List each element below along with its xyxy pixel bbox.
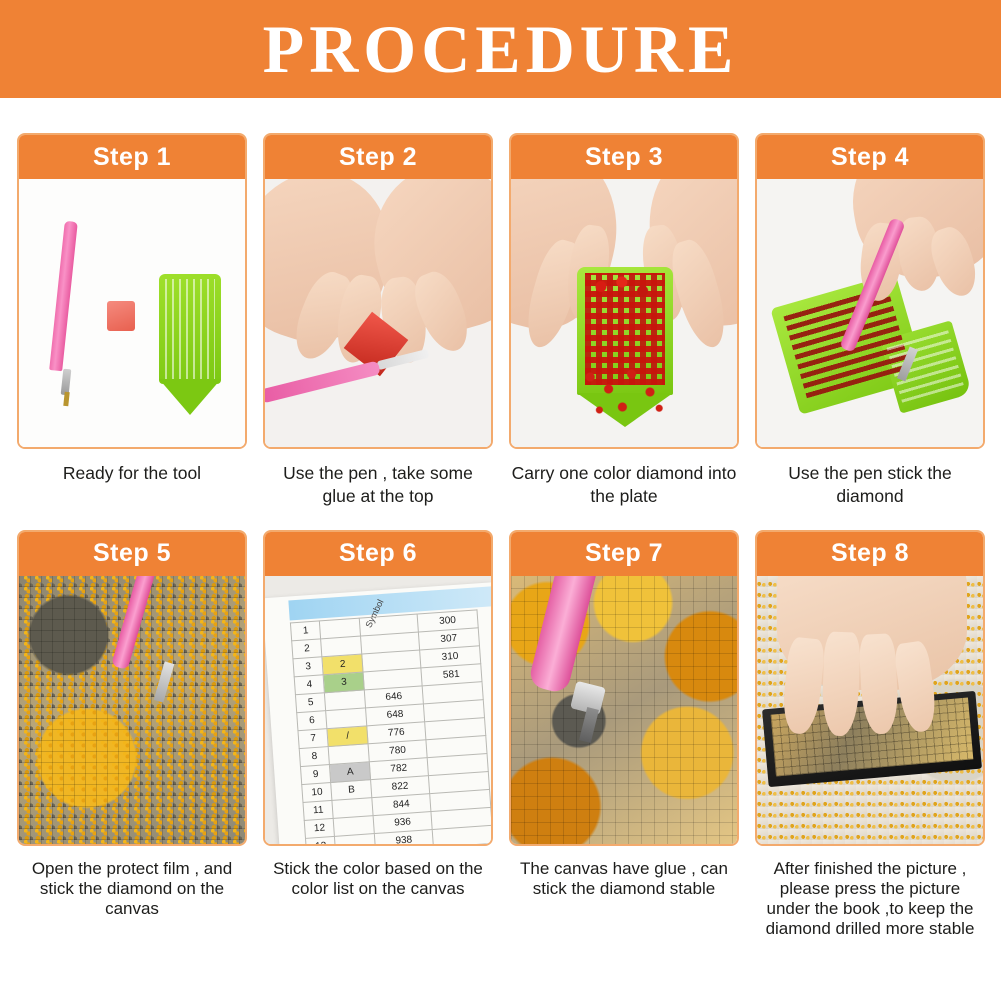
symbol-cell <box>332 797 373 818</box>
step-4-caption: Use the pen stick the diamond <box>755 462 985 508</box>
row-number-cell: 10 <box>302 782 333 802</box>
step-3-card: Step 3 <box>509 133 739 449</box>
step-6-title: Step 6 <box>265 532 491 576</box>
step-7-caption: The canvas have glue , can stick the dia… <box>509 859 739 899</box>
step-4-image <box>757 179 983 447</box>
step-3-image <box>511 179 737 447</box>
step-8-image <box>757 576 983 844</box>
step-4-title: Step 4 <box>757 135 983 179</box>
symbol-cell <box>326 707 367 728</box>
step-3-caption: Carry one color diamond into the plate <box>509 462 739 508</box>
row-number-cell: 12 <box>304 818 335 838</box>
step-card-7: Step 7 The canvas have glue , can stick … <box>509 530 739 939</box>
page-title: PROCEDURE <box>263 15 739 83</box>
step-1-card: Step 1 <box>17 133 247 449</box>
row-number-cell: 2 <box>292 638 323 658</box>
symbol-cell <box>321 636 362 657</box>
step-1-image <box>19 179 245 447</box>
step-7-card: Step 7 <box>509 530 739 846</box>
row-number-cell: 8 <box>299 746 330 766</box>
symbol-cell: / <box>327 725 368 746</box>
steps-grid: Step 1 Ready for the tool <box>17 133 984 939</box>
tray-grooves-icon <box>165 279 215 379</box>
symbol-cell: A <box>330 761 371 782</box>
symbol-cell <box>334 815 375 836</box>
wax-block-icon <box>107 301 135 331</box>
color-list-table: 130023073231043581564666487/77687809A782… <box>290 609 491 844</box>
step-8-caption: After finished the picture , please pres… <box>755 859 985 939</box>
step-card-3: Step 3 Carry one c <box>509 133 739 508</box>
step-6-card: Step 6 Symbol 13002307323104358156466648… <box>263 530 493 846</box>
procedure-infographic: PROCEDURE Step 1 <box>0 0 1001 1001</box>
steps-row-2: Step 5 Open the protect film , and stick… <box>17 530 984 939</box>
step-5-image <box>19 576 245 844</box>
row-number-cell: 3 <box>293 656 324 676</box>
symbol-cell <box>320 618 361 639</box>
step-2-caption: Use the pen , take some glue at the top <box>263 462 493 508</box>
row-number-cell: 9 <box>300 764 331 784</box>
step-1-caption: Ready for the tool <box>17 462 247 485</box>
step-6-image: Symbol 130023073231043581564666487/77687… <box>265 576 491 844</box>
step-3-title: Step 3 <box>511 135 737 179</box>
step-card-6: Step 6 Symbol 13002307323104358156466648… <box>263 530 493 939</box>
row-number-cell: 6 <box>297 710 328 730</box>
step-card-1: Step 1 Ready for the tool <box>17 133 247 508</box>
step-6-caption: Stick the color based on the color list … <box>263 859 493 899</box>
step-2-title: Step 2 <box>265 135 491 179</box>
step-5-caption: Open the protect film , and stick the di… <box>17 859 247 919</box>
symbol-cell: B <box>331 779 372 800</box>
page-header-banner: PROCEDURE <box>0 0 1001 98</box>
step-card-2: Step 2 Use the pen , take some <box>263 133 493 508</box>
symbol-cell: 2 <box>322 654 363 675</box>
step-5-card: Step 5 <box>17 530 247 846</box>
step-8-card: Step 8 <box>755 530 985 846</box>
step-7-title: Step 7 <box>511 532 737 576</box>
step-card-4: Step 4 Use the pen <box>755 133 985 508</box>
step-8-title: Step 8 <box>757 532 983 576</box>
steps-row-1: Step 1 Ready for the tool <box>17 133 984 508</box>
row-number-cell: 7 <box>298 728 329 748</box>
step-card-8: Step 8 After finished the picture , plea… <box>755 530 985 939</box>
color-list-body: 130023073231043581564666487/77687809A782… <box>290 609 491 843</box>
row-number-cell: 5 <box>295 692 326 712</box>
symbol-cell <box>329 743 370 764</box>
symbol-cell <box>325 689 366 710</box>
step-2-image <box>265 179 491 447</box>
step-card-5: Step 5 Open the protect film , and stick… <box>17 530 247 939</box>
color-chart-sheet: Symbol 130023073231043581564666487/77687… <box>265 582 491 844</box>
symbol-cell: 3 <box>324 671 365 692</box>
row-number-cell: 4 <box>294 674 325 694</box>
row-number-cell: 11 <box>303 800 334 820</box>
step-5-title: Step 5 <box>19 532 245 576</box>
step-2-card: Step 2 <box>263 133 493 449</box>
row-number-cell: 1 <box>290 620 321 640</box>
scattered-diamonds-icon <box>581 365 673 425</box>
green-tray-spout-icon <box>159 379 221 415</box>
step-4-card: Step 4 <box>755 133 985 449</box>
step-7-image <box>511 576 737 844</box>
step-1-title: Step 1 <box>19 135 245 179</box>
